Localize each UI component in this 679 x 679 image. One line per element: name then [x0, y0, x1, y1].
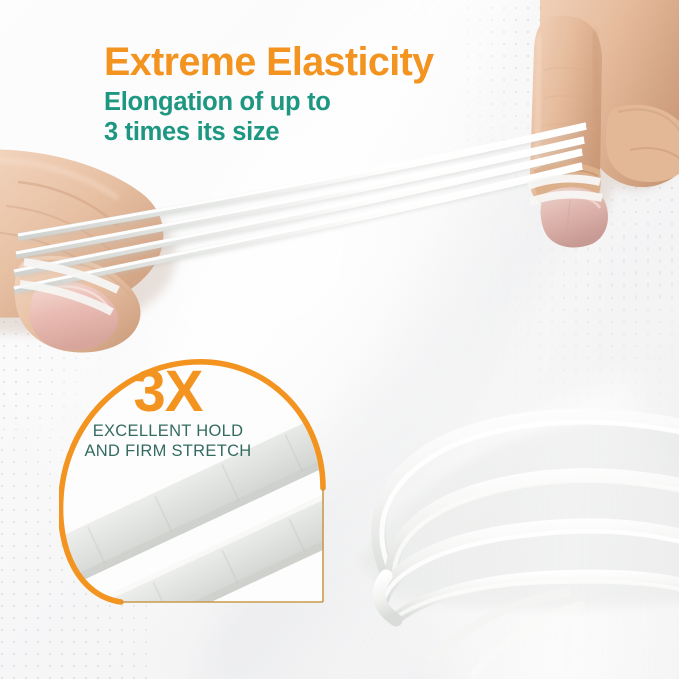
badge-text-block: 3X EXCELLENT HOLD AND FIRM STRETCH	[59, 364, 277, 461]
headline-subtitle-line-1: Elongation of up to	[104, 87, 534, 117]
headline-block: Extreme Elasticity Elongation of up to 3…	[104, 43, 534, 147]
badge-caption: EXCELLENT HOLD AND FIRM STRETCH	[59, 422, 277, 461]
headline-subtitle: Elongation of up to 3 times its size	[104, 87, 534, 147]
badge-caption-line-2: AND FIRM STRETCH	[59, 442, 277, 461]
infographic-canvas: Extreme Elasticity Elongation of up to 3…	[0, 0, 679, 679]
headline-subtitle-line-2: 3 times its size	[104, 117, 534, 147]
teardrop-badge: 3X EXCELLENT HOLD AND FIRM STRETCH	[59, 328, 331, 610]
right-hand-index-finger	[530, 0, 679, 248]
relaxed-rubber-bands	[360, 416, 679, 679]
badge-multiplier: 3X	[59, 364, 277, 419]
badge-caption-line-1: EXCELLENT HOLD	[59, 422, 277, 441]
page-title: Extreme Elasticity	[104, 43, 534, 83]
